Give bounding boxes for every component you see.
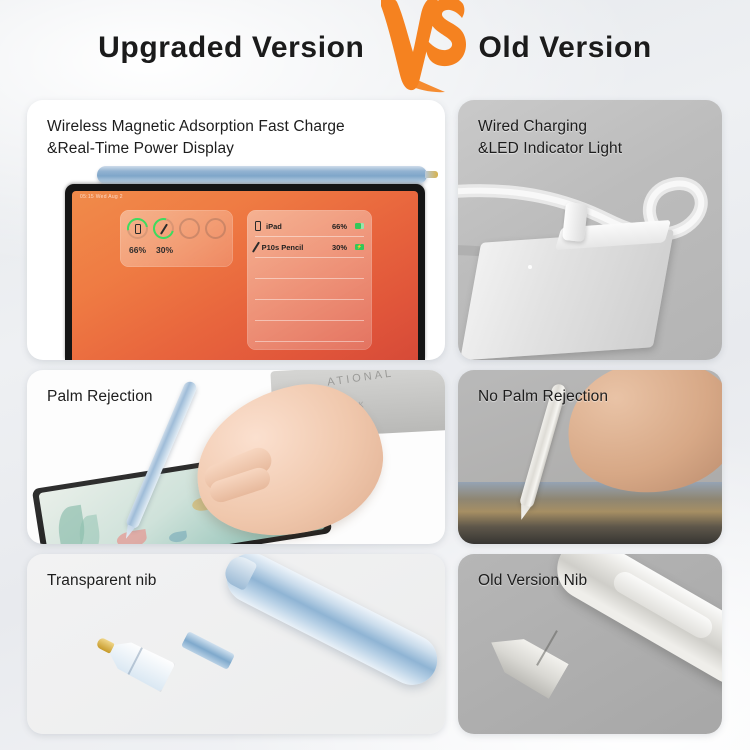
upgraded-version-title: Upgraded Version (98, 31, 364, 65)
ipad-icon (255, 221, 261, 231)
tablet-artwork-landscape (458, 482, 722, 544)
caption-transparent-nib: Transparent nib (47, 570, 157, 592)
battery-ring-row (127, 218, 226, 239)
old-nib-cone (481, 625, 569, 699)
vs-badge (375, 0, 471, 96)
usb-c-plug (562, 202, 588, 242)
comparison-header: Upgraded Version Old Version (0, 0, 750, 96)
battery-list-row-empty (255, 321, 364, 342)
battery-list-row-empty (255, 279, 364, 300)
battery-charging-icon: ⚡ (355, 244, 364, 250)
battery-list-row-pencil: P10s Pencil 30% ⚡ (255, 237, 364, 258)
stylus-shaft (181, 631, 235, 670)
ring-empty-2 (205, 218, 226, 239)
tablet-device: 05:15 Wed Aug 2 (65, 184, 425, 360)
battery-list-widget: iPad 66% P10s Pencil 30% ⚡ (247, 210, 372, 350)
tablet-screen: 05:15 Wed Aug 2 (72, 191, 418, 360)
battery-row-name: iPad (266, 222, 327, 231)
caption-old-version-nib: Old Version Nib (478, 570, 587, 592)
ring-pencil (153, 218, 174, 239)
panel-no-palm-rejection[interactable]: No Palm Rejection (458, 370, 722, 544)
caption-no-palm-rejection: No Palm Rejection (478, 386, 608, 408)
battery-list-row-empty (255, 258, 364, 279)
battery-list-row-empty (255, 300, 364, 321)
caption-wired-charging: Wired Charging &LED Indicator Light (478, 116, 622, 160)
transparent-nib-part (99, 632, 176, 692)
panel-wired-charging[interactable]: Wired Charging &LED Indicator Light (458, 100, 722, 360)
caption-palm-rejection: Palm Rejection (47, 386, 153, 408)
comparison-grid: Wireless Magnetic Adsorption Fast Charge… (0, 96, 750, 750)
led-indicator-light (528, 265, 532, 269)
panel-wireless-charging[interactable]: Wireless Magnetic Adsorption Fast Charge… (27, 100, 445, 360)
battery-list-row-ipad: iPad 66% (255, 216, 364, 237)
battery-row-percent: 30% (332, 243, 347, 252)
pencil-icon (160, 223, 168, 234)
ring-empty-1 (179, 218, 200, 239)
artwork-fish (168, 531, 187, 544)
pencil-percent-label: 30% (156, 245, 173, 255)
battery-full-icon (355, 223, 364, 229)
battery-percent-row: 66% 30% (129, 245, 173, 255)
pencil-icon (252, 241, 260, 252)
battery-row-name: P10s Pencil (262, 243, 327, 252)
panel-transparent-nib[interactable]: Transparent nib (27, 554, 445, 734)
ring-ipad (127, 218, 148, 239)
panel-palm-rejection[interactable]: Palm Rejection ATIONAL QUICK•DUCK (27, 370, 445, 544)
status-bar-text: 05:15 Wed Aug 2 (80, 194, 123, 200)
battery-icon (135, 224, 141, 234)
old-version-title: Old Version (479, 31, 652, 65)
battery-ring-widget: 66% 30% (120, 210, 233, 267)
panel-old-version-nib[interactable]: Old Version Nib (458, 554, 722, 734)
vs-brush-icon (375, 0, 471, 96)
stylus-body-blue (218, 554, 445, 693)
ipad-percent-label: 66% (129, 245, 146, 255)
battery-row-percent: 66% (332, 222, 347, 231)
caption-wireless-charging: Wireless Magnetic Adsorption Fast Charge… (47, 116, 345, 160)
stylus-magnetic-attached (97, 166, 427, 184)
